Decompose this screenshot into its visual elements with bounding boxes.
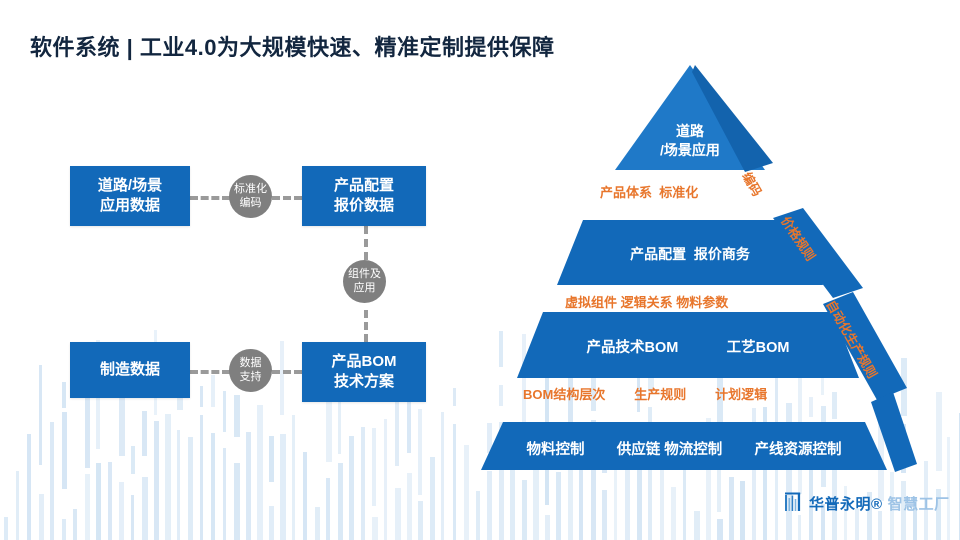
connector-line-5: [190, 370, 230, 374]
flow-box-manufacturing-data[interactable]: 制造数据: [70, 342, 190, 398]
connector-line-1: [190, 196, 230, 200]
pyramid-shapes: [455, 60, 955, 500]
pyramid-diagram: 道路 /场景应用 产品体系 标准化 编码 产品配置 报价商务 虚拟组件 逻辑关系…: [455, 60, 955, 500]
logo-mark-icon: [785, 492, 804, 514]
flow-circle-component-and-application[interactable]: 组件及 应用: [343, 260, 386, 303]
flow-box-product-config-quote-data[interactable]: 产品配置 报价数据: [302, 166, 426, 226]
flow-box-label: 产品BOM 技术方案: [332, 352, 397, 393]
brand-logo: 华普永明® 智慧工厂: [785, 492, 950, 514]
connector-line-2: [272, 196, 302, 200]
flow-box-product-bom-tech-plan[interactable]: 产品BOM 技术方案: [302, 342, 426, 402]
flow-box-label: 产品配置 报价数据: [334, 176, 394, 217]
page-title: 软件系统 | 工业4.0为大规模快速、精准定制提供保障: [30, 30, 554, 62]
flow-box-label: 道路/场景 应用数据: [98, 176, 162, 217]
flow-box-label: 制造数据: [100, 360, 160, 380]
flow-circle-label: 标准化 编码: [234, 183, 267, 211]
flow-circle-label: 组件及 应用: [348, 268, 381, 296]
flow-circle-standardize-encoding[interactable]: 标准化 编码: [229, 175, 272, 218]
logo-main-text: 华普永明®: [809, 493, 883, 514]
flow-box-road-scene-data[interactable]: 道路/场景 应用数据: [70, 166, 190, 226]
logo-sub-text: 智慧工厂: [888, 493, 950, 514]
connector-line-4: [364, 310, 368, 342]
slide-canvas: 软件系统 | 工业4.0为大规模快速、精准定制提供保障 道路/场景 应用数据 产…: [0, 0, 960, 540]
connector-line-6: [272, 370, 302, 374]
flow-circle-label: 数据 支持: [240, 357, 262, 385]
connector-line-3: [364, 226, 368, 260]
pyramid-level-4-face[interactable]: [481, 422, 887, 470]
flow-circle-data-support[interactable]: 数据 支持: [229, 349, 272, 392]
pyramid-level-3-face[interactable]: [517, 312, 859, 378]
